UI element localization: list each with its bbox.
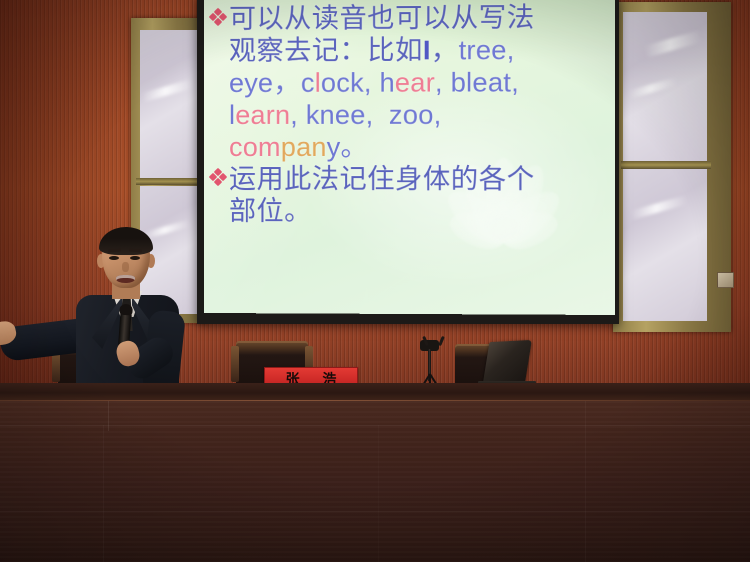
slide-text-run: 。 (340, 134, 368, 161)
slide-line: 运用此法记住身体的各个 (210, 166, 609, 193)
projection-screen: 可以从读音也可以从写法观察去记：比如I，tree,eye，clock, hear… (204, 0, 615, 315)
window-mullion-right (621, 161, 711, 169)
slide-text-run: 运用此法记住身体的各个 (229, 166, 535, 193)
slide-text-run: , (364, 70, 380, 97)
slide-text-run: , (435, 69, 451, 96)
slide-text-run: ear (395, 69, 435, 96)
speaker-figure (0, 225, 215, 400)
slide-text-run: I (423, 37, 431, 64)
projection-screen-frame: 可以从读音也可以从写法观察去记：比如I，tree,eye，clock, hear… (197, 0, 619, 324)
slide-text-run: ， (273, 70, 301, 97)
slide-text-run: eye (229, 70, 273, 97)
slide-text-run: y (327, 134, 341, 161)
slide-text-run: , (366, 102, 389, 129)
speaker-mouth (116, 275, 135, 283)
diamond-cluster-bullet-icon (210, 9, 228, 25)
slide-line: learn, knee, zoo, (210, 101, 609, 129)
slide-text-body: 可以从读音也可以从写法观察去记：比如I，tree,eye，clock, hear… (210, 4, 609, 231)
slide-text-run: ， (431, 37, 459, 64)
diamond-cluster-bullet-icon (210, 169, 228, 185)
desk-microphone (415, 340, 447, 388)
slide-text-run: , (511, 69, 519, 96)
slide-text-run: 可以从读音也可以从写法 (229, 4, 535, 32)
slide-text-run: h (379, 69, 394, 96)
slide-text-run: 部位。 (229, 198, 312, 225)
wall-outlet (717, 272, 734, 288)
slide-text-run: com (229, 134, 281, 161)
desk-front-panel (0, 401, 750, 562)
slide-text-run: earn (235, 102, 290, 129)
slide-text-run: pan (281, 134, 327, 161)
slide-line: 可以从读音也可以从写法 (210, 4, 609, 33)
window-glass-left-top (140, 30, 198, 178)
chair-center-arm (231, 346, 239, 382)
slide-text-run: , (434, 102, 442, 129)
slide-line: 部位。 (210, 198, 609, 226)
window-glass-right-bottom (623, 169, 707, 321)
slide-text-run: ock (321, 70, 364, 97)
window-panel-right (613, 2, 731, 332)
slide-text-run: tree (459, 37, 507, 64)
slide-text-run: 观察去记：比如 (229, 37, 423, 65)
slide-text-run: , (507, 37, 515, 64)
slide-line: 观察去记：比如I，tree, (210, 37, 609, 65)
slide-text-run: zoo (389, 102, 434, 129)
slide-text-run: , (290, 102, 305, 129)
window-mullion-left (136, 178, 202, 185)
slide-text-run: bleat (451, 69, 512, 96)
slide-text-run: c (301, 70, 315, 97)
window-glass-right-top (623, 12, 707, 162)
slide-text-run: knee (306, 102, 366, 129)
lecture-hall-photo: 可以从读音也可以从写法观察去记：比如I，tree,eye，clock, hear… (0, 0, 750, 562)
slide-line: company。 (210, 134, 609, 161)
slide-line: eye，clock, hear, bleat, (210, 69, 609, 97)
